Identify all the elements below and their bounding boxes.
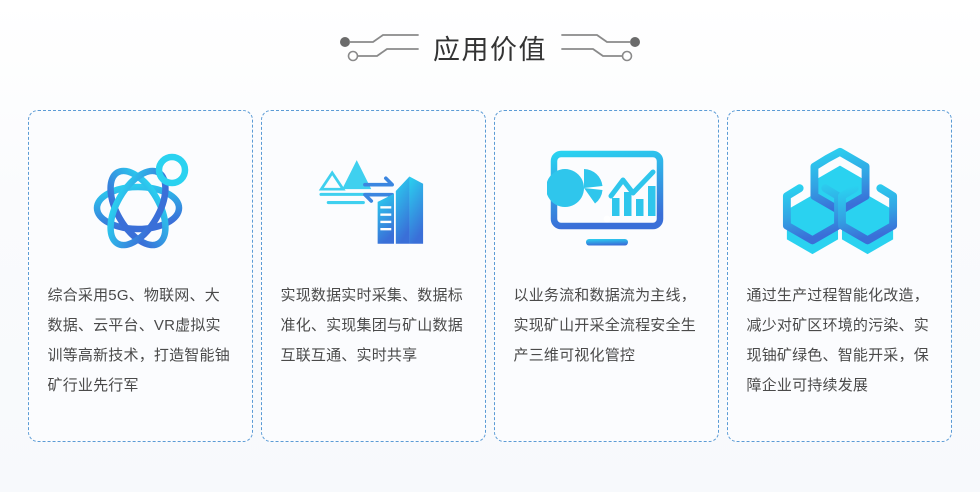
value-card-3[interactable]: 以业务流和数据流为主线，实现矿山开采全流程安全生产三维可视化管控 [494, 110, 719, 442]
value-card-4[interactable]: 通过生产过程智能化改造，减少对矿区环境的污染、实现铀矿绿色、智能开采，保障企业可… [727, 110, 952, 442]
atom-icon [81, 141, 201, 261]
value-card-list: 综合采用5G、物联网、大数据、云平台、VR虚拟实训等高新技术，打造智能铀矿行业先… [28, 110, 952, 442]
value-card-2-text: 实现数据实时采集、数据标准化、实现集团与矿山数据互联互通、实时共享 [281, 281, 467, 371]
circuit-line-left-icon [339, 33, 419, 68]
circuit-line-right-icon [561, 33, 641, 68]
value-card-2[interactable]: 实现数据实时采集、数据标准化、实现集团与矿山数据互联互通、实时共享 [261, 110, 486, 442]
section-header: 应用价值 [0, 22, 980, 78]
monitor-analytics-icon [547, 141, 667, 261]
mine-to-enterprise-exchange-icon [314, 141, 434, 261]
value-card-4-text: 通过生产过程智能化改造，减少对矿区环境的污染、实现铀矿绿色、智能开采，保障企业可… [747, 281, 933, 401]
value-card-3-text: 以业务流和数据流为主线，实现矿山开采全流程安全生产三维可视化管控 [514, 281, 700, 371]
value-card-1-text: 综合采用5G、物联网、大数据、云平台、VR虚拟实训等高新技术，打造智能铀矿行业先… [48, 281, 234, 401]
value-card-1[interactable]: 综合采用5G、物联网、大数据、云平台、VR虚拟实训等高新技术，打造智能铀矿行业先… [28, 110, 253, 442]
section-title: 应用价值 [433, 34, 547, 66]
application-value-section: 应用价值 [0, 0, 980, 492]
hexagon-cluster-icon [780, 141, 900, 261]
